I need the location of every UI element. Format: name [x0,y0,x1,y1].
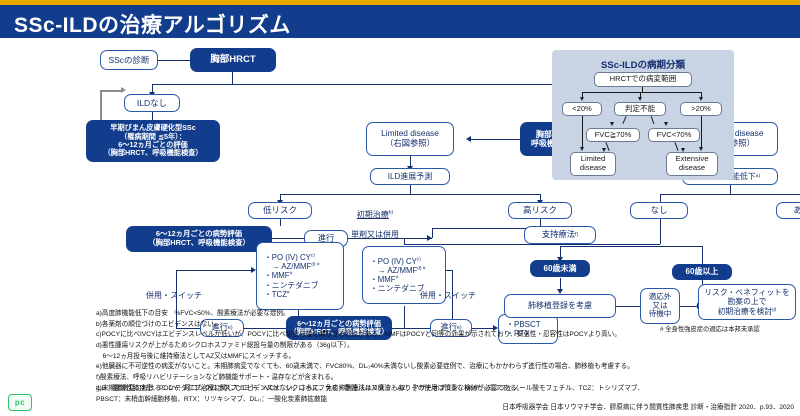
node-early-diffuse-cutaneous-ssc[interactable]: 早期びまん皮膚硬化型SSc （罹病期間 ≦5年）： 6〜12ヵ月ごとの評価 （胸… [86,120,220,162]
footnote-e: e)他臓器に不可逆性の病変がないこと。末期肺病変でなくても、60歳未満で、FVC… [96,362,796,373]
node-supportive-care[interactable]: 支持療法f) [524,226,596,244]
node-treatment-options-high-risk[interactable]: ・PO (IV) CYc) → AZ/MMFd) #・MMF#・ニンテダニブ・T… [256,242,344,310]
node-ild-absent[interactable]: ILDなし [124,94,180,112]
panel-arrow [602,148,606,152]
panel-arrow [699,97,703,101]
arrow-right [121,87,126,93]
node-limited-disease[interactable]: Limited disease （右図参照） [366,122,454,156]
connector [410,185,411,194]
node-ild-progression-prediction[interactable]: ILD進展予測 [370,168,450,185]
panel-arrow [580,147,584,151]
panel-arrow [699,147,703,151]
panel-node-fvc-lt-70[interactable]: FVC<70% [648,128,700,142]
connector [158,60,190,61]
panel-connector [674,142,678,151]
label-combination-switch-right: 併用・スイッチ [420,291,476,301]
connector [152,84,580,85]
connector [702,246,703,264]
footnotes-list: a)高度肺機能低下の目安 %FVC<50%、酸素療法が必要な症例。 b)各薬剤の… [96,309,796,394]
source-citation: 日本呼吸器学会 日本リウマチ学会．膠原病に伴う間質性肺疾患 診断・治療指針 20… [502,401,794,411]
panel-connector [622,116,626,124]
connector [616,306,640,307]
panel-arrow [610,122,614,126]
connector [176,270,252,271]
node-label: 支持療法 [542,230,575,240]
staging-classification-panel: SSc-ILDの病期分類 HRCTでの病変範囲 <20% 判定不能 >20% F… [552,50,734,180]
connector [470,139,520,140]
panel-connector [582,92,702,93]
connector [232,72,233,84]
node-no-severe-decline[interactable]: なし [630,202,688,219]
panel-node-gt20[interactable]: >20% [680,102,722,116]
node-periodic-assessment-left[interactable]: 6〜12ヵ月ごとの病勢評価 （胸部HRCT、呼吸機能検査） [126,226,272,252]
panel-connector [701,116,702,148]
connector-feedback [100,90,102,120]
connector [660,194,800,195]
footnote-d: d)悪性腫瘍リスクが上がるためシクロホスファミド総投与量の制限がある（36g以下… [96,341,796,352]
connector [280,194,540,195]
arrow-left [466,136,471,142]
connector [680,306,698,307]
footnote-d-cont: 6〜12ヵ月投与後に維持療法としてAZ又はMMFにスイッチする。 [96,352,796,363]
panel-arrow [681,148,685,152]
pc-logo: pc [8,394,32,411]
treatment-list: ・PO (IV) CYc) → AZ/MMFd) #・MMF#・ニンテダニブ [370,257,426,294]
footnote-a: a)高度肺機能低下の目安 %FVC<50%、酸素療法が必要な症例。 [96,309,796,320]
panel-node-hrct-extent[interactable]: HRCTでの病変範囲 [594,72,692,87]
initial-treatment-text: 初期治療 [357,210,389,219]
panel-node-lt20[interactable]: <20% [562,102,602,116]
node-low-risk[interactable]: 低リスク [248,202,312,219]
node-over-60[interactable]: 60歳以上 [672,264,732,280]
panel-node-indeterminate[interactable]: 判定不能 [614,102,666,116]
panel-arrow [638,97,642,101]
panel-node-extensive-disease[interactable]: Extensive disease [666,152,718,176]
panel-node-fvc-ge-70[interactable]: FVC≧70% [586,128,640,142]
node-chest-hrct[interactable]: 胸部HRCT [190,48,276,72]
footnote-b: b)各薬剤の順位づけのエビデンスはない。 [96,320,796,331]
treatment-list: ・PO (IV) CYc) → AZ/MMFd) #・MMF#・ニンテダニブ・T… [264,253,320,299]
panel-arrow [664,122,668,126]
panel-title: SSc-ILDの病期分類 [552,57,734,71]
label-combination-switch-left: 併用・スイッチ [146,291,202,301]
panel-arrow [580,97,584,101]
connector [660,216,661,244]
panel-connector [582,116,583,148]
connector [660,194,661,202]
connector-feedback [100,90,122,92]
connector [730,185,731,194]
node-under-60[interactable]: 60歳未満 [530,260,590,277]
abbreviations-line-1: ILD：間質性肺疾患、POCY：経口シクロホスファミド、IVCY：シクロホスファ… [96,384,796,395]
node-yes-severe-decline[interactable]: あり [776,202,800,219]
connector [432,228,433,238]
connector [404,244,660,245]
mono-or-combination-text: 単剤又は併用 [351,230,399,239]
arrow-right [427,235,432,241]
connector [560,246,702,247]
footnote-c: c)POCYに比べIVCYはエビデンスレベルが低いが、POCYに比べ総投与量を減… [96,330,796,341]
panel-node-limited-disease[interactable]: Limited disease [570,152,616,176]
footnote-f: f)酸素療法、呼吸リハビリテーションなど肺機能サポート・温存などが含まれる。 [96,373,796,384]
panel-connector [651,116,654,124]
connector [272,238,304,239]
node-ssc-diagnosis[interactable]: SScの診断 [100,50,158,70]
page-title: SSc-ILDの治療アルゴリズム [14,9,291,39]
node-high-risk[interactable]: 高リスク [508,202,572,219]
label-initial-treatment: 初期治療b) 単剤又は併用 [340,200,410,240]
